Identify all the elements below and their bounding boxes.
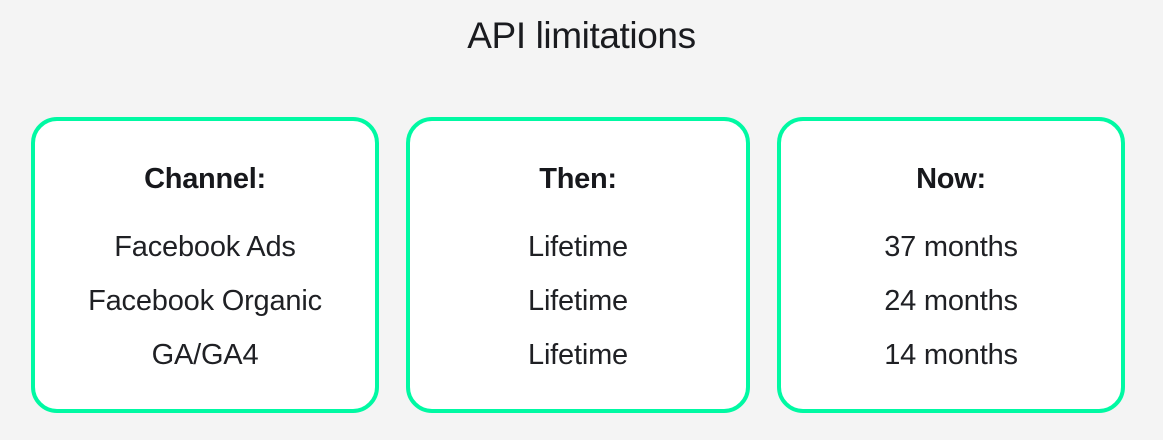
page-title: API limitations <box>0 14 1163 58</box>
card-channel-row-3: GA/GA4 <box>152 328 259 382</box>
card-then-row-2: Lifetime <box>528 274 628 328</box>
card-channel-row-2: Facebook Organic <box>88 274 322 328</box>
card-then-row-3: Lifetime <box>528 328 628 382</box>
card-channel-rows: Facebook Ads Facebook Organic GA/GA4 <box>35 220 375 382</box>
api-limitations-slide: API limitations Channel: Facebook Ads Fa… <box>0 0 1163 440</box>
card-now-rows: 37 months 24 months 14 months <box>781 220 1121 382</box>
card-then: Then: Lifetime Lifetime Lifetime <box>406 117 750 413</box>
comparison-card-group: Channel: Facebook Ads Facebook Organic G… <box>31 117 1126 413</box>
card-now-row-3: 14 months <box>884 328 1018 382</box>
card-channel: Channel: Facebook Ads Facebook Organic G… <box>31 117 379 413</box>
card-then-row-1: Lifetime <box>528 220 628 274</box>
card-now: Now: 37 months 24 months 14 months <box>777 117 1125 413</box>
card-then-header: Then: <box>539 165 616 194</box>
card-now-row-2: 24 months <box>884 274 1018 328</box>
card-channel-header: Channel: <box>144 165 266 194</box>
card-now-row-1: 37 months <box>884 220 1018 274</box>
card-then-rows: Lifetime Lifetime Lifetime <box>410 220 746 382</box>
card-channel-row-1: Facebook Ads <box>114 220 295 274</box>
card-now-header: Now: <box>916 165 986 194</box>
